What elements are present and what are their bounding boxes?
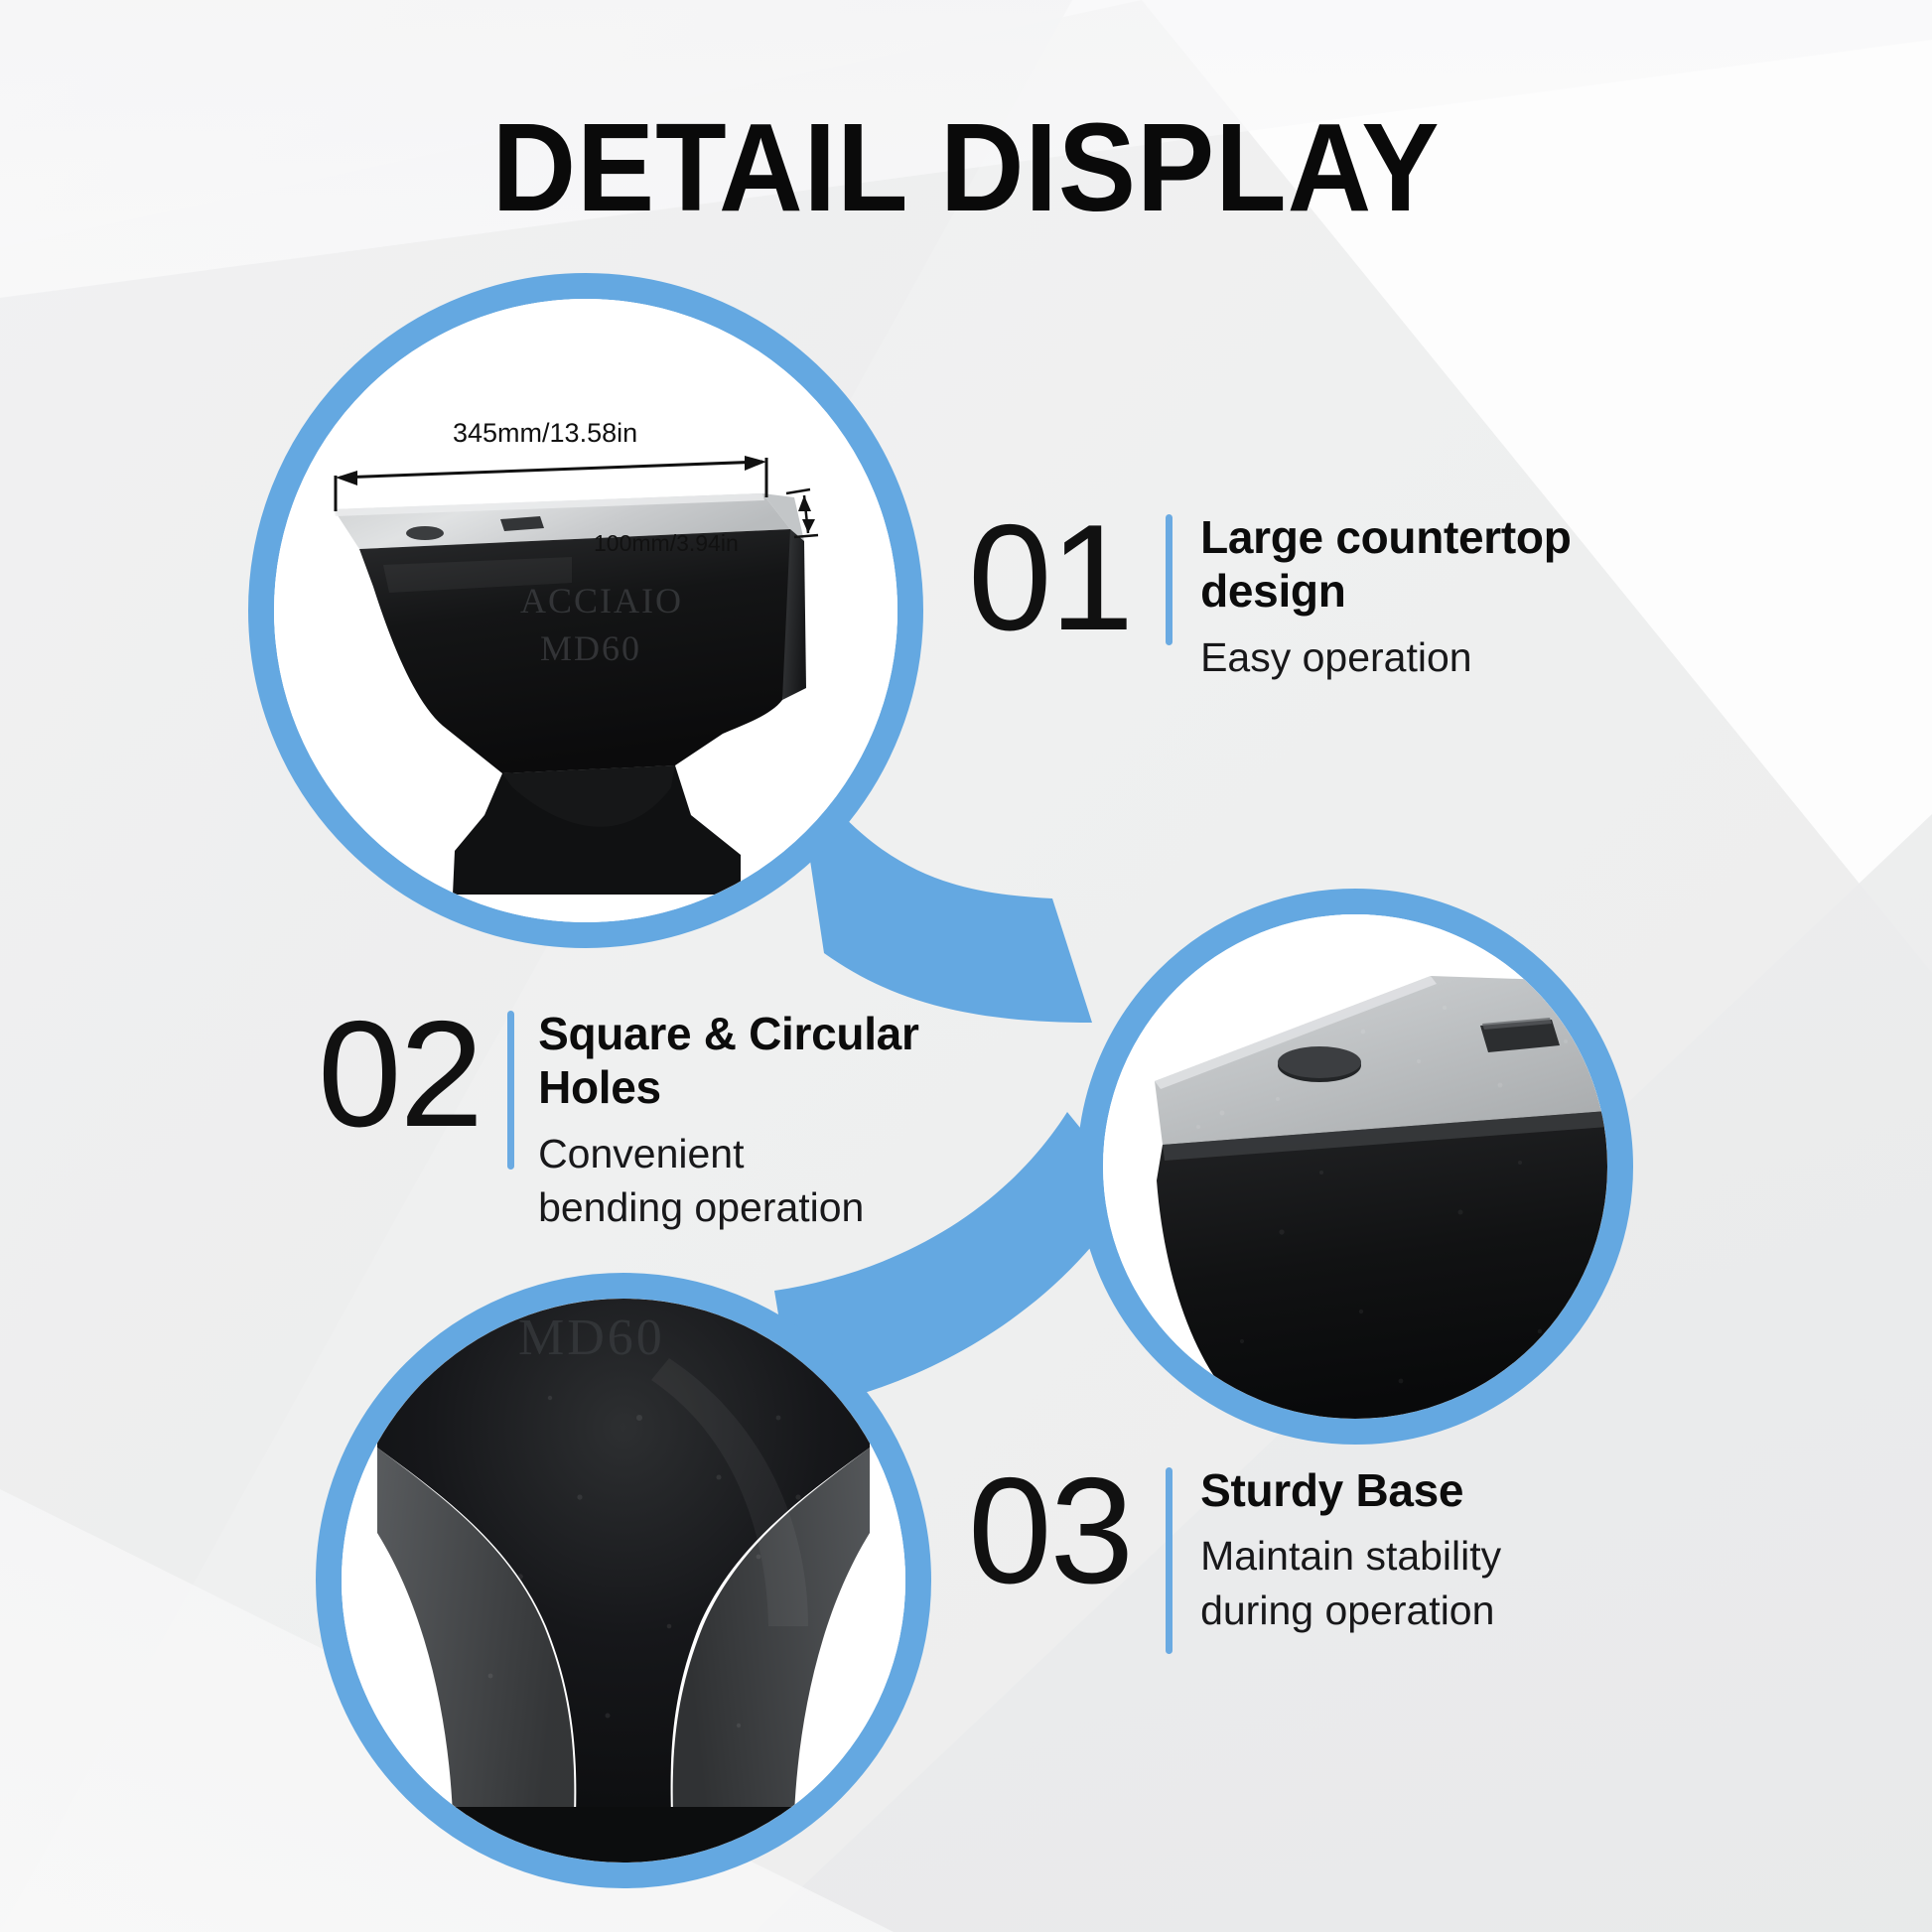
feature-number-02: 02 <box>318 1003 482 1146</box>
photo-circle-01-inner: ACCIAIO MD60 345mm/13 <box>274 299 897 922</box>
feature-heading-03: Sturdy Base <box>1200 1463 1501 1517</box>
dimension-label-width: 345mm/13.58in <box>453 418 637 449</box>
feature-divider-01 <box>1166 514 1173 645</box>
anvil-base-closeup-image: MD60 <box>342 1299 905 1863</box>
anvil-hardy-holes-closeup-image <box>1103 914 1607 1419</box>
detail-display-page: DETAIL DISPLAY <box>0 0 1932 1932</box>
feature-subtext-03: Maintain stability during operation <box>1200 1529 1501 1638</box>
feature-subtext-01: Easy operation <box>1200 630 1571 685</box>
photo-circle-03-inner: MD60 <box>342 1299 905 1863</box>
feature-block-01: 01 Large countertop design Easy operatio… <box>968 506 1703 684</box>
feature-number-01: 01 <box>968 506 1132 649</box>
dimension-annotations <box>274 299 897 922</box>
feature-divider-02 <box>507 1011 514 1170</box>
feature-number-03: 03 <box>968 1459 1132 1602</box>
page-title: DETAIL DISPLAY <box>68 95 1864 239</box>
feature-subtext-02: Convenient bending operation <box>538 1127 1052 1236</box>
emboss-line-md60-base: MD60 <box>518 1310 665 1366</box>
feature-divider-03 <box>1166 1467 1173 1654</box>
feature-heading-01: Large countertop design <box>1200 510 1571 619</box>
feature-heading-02: Square & Circular Holes <box>538 1007 1052 1115</box>
photo-circle-02-inner <box>1103 914 1607 1419</box>
feature-block-03: 03 Sturdy Base Maintain stability during… <box>968 1459 1703 1654</box>
feature-block-02: 02 Square & Circular Holes Convenient be… <box>318 1003 1052 1235</box>
dimension-label-height: 100mm/3.94in <box>594 530 739 557</box>
